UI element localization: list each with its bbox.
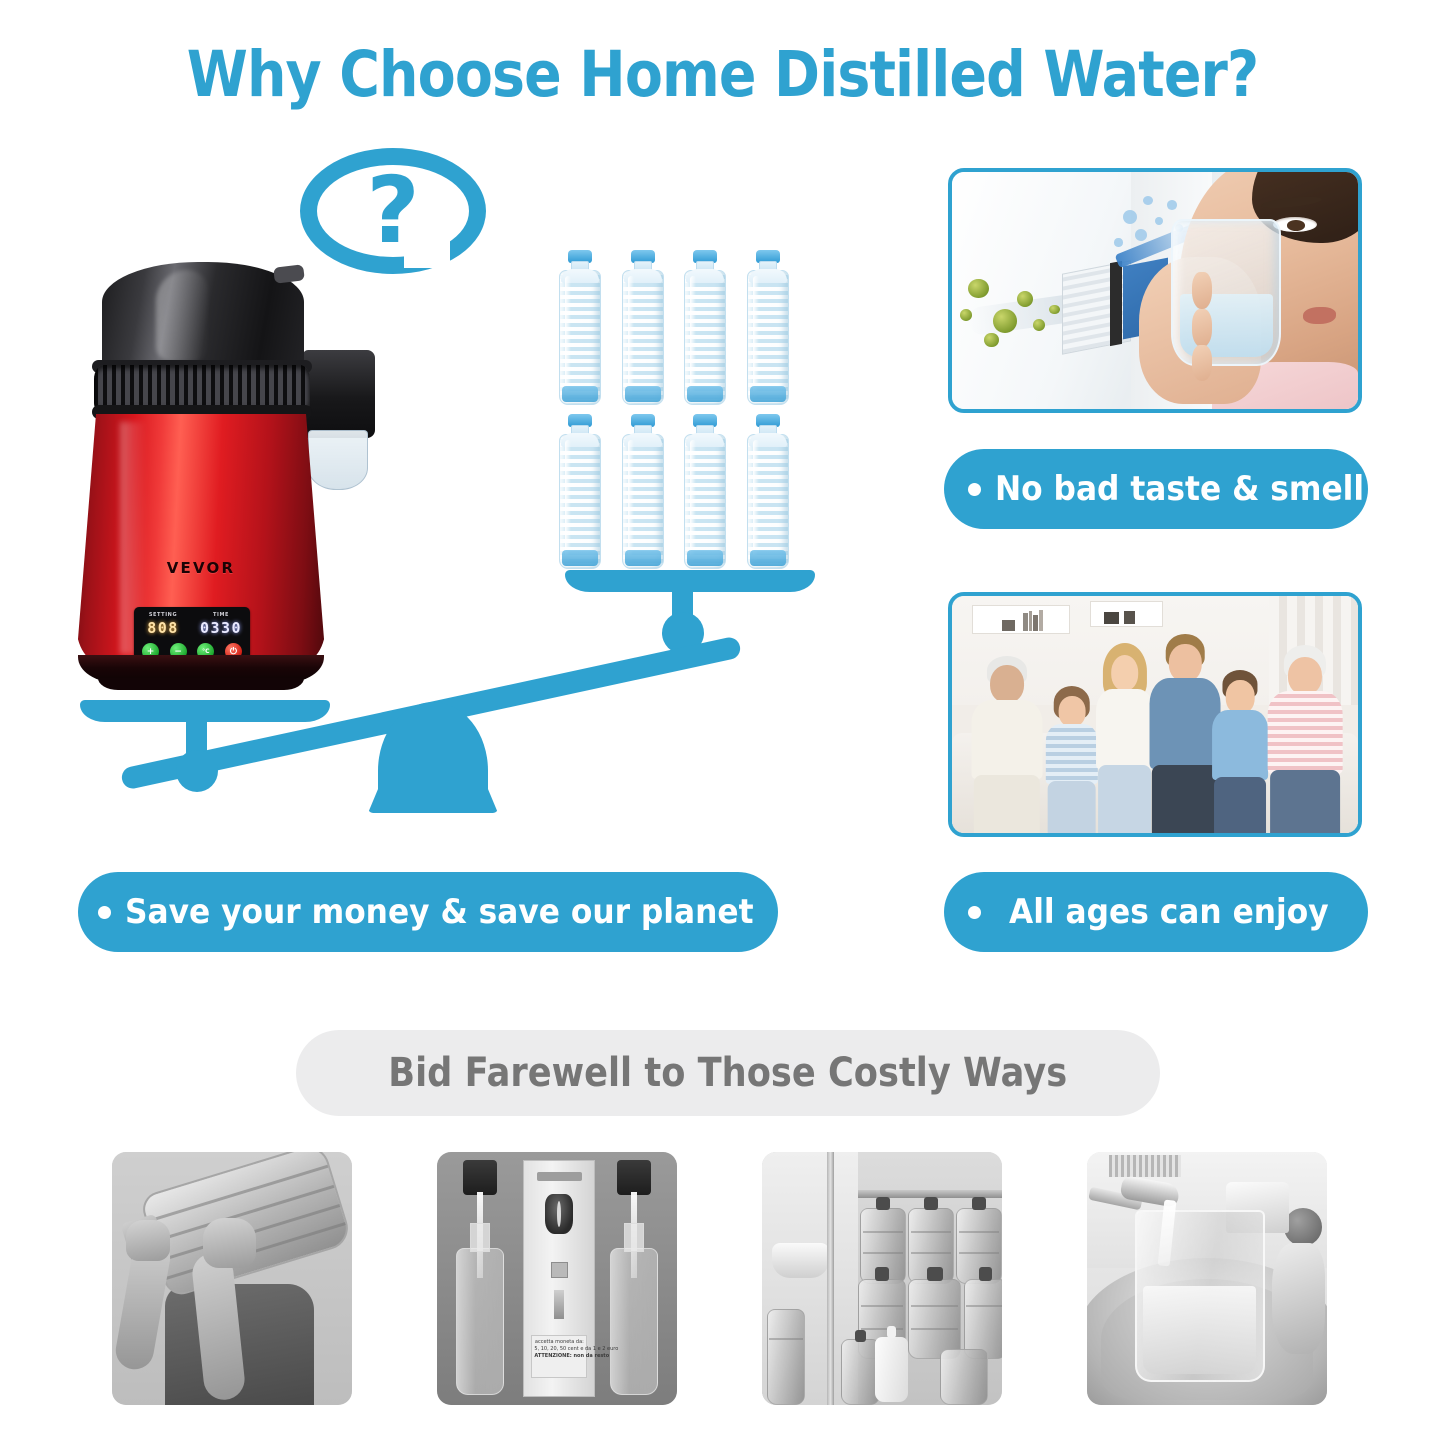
- question-mark-icon: ?: [300, 152, 486, 270]
- bottle-row-bottom: [556, 414, 792, 569]
- person-grandfather: [968, 653, 1045, 833]
- family-on-sofa-photo: [948, 592, 1362, 837]
- water-bottle: [744, 414, 792, 569]
- jug-cap: [875, 1267, 890, 1281]
- torso: [1096, 689, 1154, 769]
- jug-rib: [861, 1305, 903, 1307]
- book: [1124, 611, 1135, 624]
- label-line-3: ATTENZIONE: non da resto: [534, 1353, 584, 1360]
- germ-icon: [1049, 305, 1059, 314]
- banner-text: Bid Farewell to Those Costly Ways: [389, 1050, 1068, 1096]
- jug-rib: [863, 1252, 903, 1254]
- water-vending-machine-photo: accetta moneta da: 5, 10, 20, 50 cent e …: [437, 1152, 677, 1405]
- germ-icon: [993, 309, 1017, 333]
- germ-icon: [968, 279, 988, 298]
- fruit: [1284, 1208, 1322, 1246]
- glass-bottle-left: [456, 1248, 504, 1395]
- stacked-water-jugs-photo: [762, 1152, 1002, 1405]
- label-line-1: accetta moneta da:: [534, 1339, 584, 1346]
- head: [1058, 696, 1085, 726]
- filter-dark-plate: [1110, 261, 1122, 346]
- water-jug: [940, 1349, 988, 1405]
- coin-return[interactable]: [554, 1290, 563, 1318]
- bubble-icon: [1143, 196, 1153, 205]
- book: [1039, 610, 1043, 631]
- man-right-hand: [203, 1218, 256, 1269]
- jug-cap: [927, 1267, 943, 1281]
- panel-slot: [537, 1172, 582, 1180]
- bullet-dot-icon: [968, 906, 981, 919]
- book: [1033, 615, 1038, 631]
- seesaw-pivot-left: [176, 750, 218, 792]
- jug-neck: [887, 1326, 896, 1338]
- book: [1002, 620, 1015, 631]
- page-title: Why Choose Home Distilled Water?: [87, 38, 1359, 111]
- man-carrying-water-jug-photo: [112, 1152, 352, 1405]
- distiller-water-outlet: [308, 430, 368, 490]
- bottle-water: [687, 386, 723, 402]
- glass-bottle-right: [610, 1248, 658, 1395]
- jug-rib: [911, 1305, 958, 1307]
- wash-basin: [772, 1243, 830, 1278]
- tap-left-icon: [463, 1160, 497, 1195]
- wall-vent: [1109, 1155, 1181, 1178]
- jug-rib: [911, 1231, 951, 1233]
- tap-right-icon: [617, 1160, 651, 1195]
- water-bottle: [681, 250, 729, 405]
- caption-text: No bad taste & smell: [995, 469, 1364, 509]
- woman-lips: [1303, 307, 1335, 324]
- finger: [1192, 272, 1212, 310]
- bottle-highlight: [565, 276, 571, 396]
- legs: [974, 775, 1040, 836]
- coin-display: [551, 1262, 568, 1279]
- water-jug: [908, 1279, 961, 1360]
- bullet-dot-icon: [968, 483, 981, 496]
- germ-icon: [1017, 291, 1033, 308]
- woman-drinking-filtered-water-photo: [948, 168, 1362, 413]
- distiller-spout-housing: [303, 350, 375, 438]
- head: [990, 665, 1024, 703]
- jug-rib: [911, 1328, 958, 1330]
- label-line-2: 5, 10, 20, 50 cent e da 1 e 2 euro: [534, 1346, 584, 1353]
- water-jug: [964, 1279, 1002, 1360]
- bottle-highlight: [690, 440, 696, 560]
- filter-pitcher-at-tap-photo: [1087, 1152, 1327, 1405]
- head: [1288, 657, 1322, 695]
- water-bottle: [556, 414, 604, 569]
- lid-knob: [273, 264, 305, 284]
- bottle-water: [750, 386, 786, 402]
- infographic-page: Why Choose Home Distilled Water? ? VEVOR…: [0, 0, 1445, 1445]
- torso: [1212, 710, 1268, 780]
- head: [1169, 644, 1201, 682]
- water-bottle: [619, 250, 667, 405]
- vending-machine-panel: accetta moneta da: 5, 10, 20, 50 cent e …: [523, 1160, 595, 1398]
- book: [1023, 613, 1028, 631]
- torso: [971, 700, 1042, 779]
- balance-seesaw: [60, 560, 820, 830]
- water-jug: [841, 1339, 879, 1405]
- legs: [1047, 781, 1096, 836]
- vending-machine-label: accetta moneta da: 5, 10, 20, 50 cent e …: [531, 1335, 587, 1377]
- jug-rib: [769, 1338, 802, 1340]
- legs: [1214, 777, 1266, 837]
- head: [1226, 680, 1255, 713]
- water-bottle: [681, 414, 729, 569]
- water-bottle: [556, 250, 604, 405]
- jug-rib: [959, 1231, 999, 1233]
- bottle-neck: [624, 1223, 644, 1252]
- jug-rib: [966, 1305, 1002, 1307]
- bottle-water: [562, 386, 598, 402]
- seesaw-fulcrum-foot: [368, 785, 498, 813]
- drinking-glass: [1171, 219, 1281, 366]
- torso: [1268, 691, 1343, 774]
- person-grandmother: [1265, 643, 1346, 833]
- bottle-highlight: [690, 276, 696, 396]
- jug-rib: [861, 1328, 903, 1330]
- jug-cap: [855, 1330, 867, 1341]
- filter-pitcher: [1135, 1210, 1265, 1382]
- lid-highlight: [156, 270, 208, 362]
- pitcher-water: [1143, 1286, 1256, 1373]
- jug-cap: [979, 1267, 992, 1281]
- bottle-highlight: [565, 440, 571, 560]
- bubble-icon: [1123, 210, 1137, 224]
- jug-rib: [911, 1252, 951, 1254]
- bullet-dot-icon: [98, 906, 111, 919]
- water-jug: [767, 1309, 805, 1405]
- bottle-highlight: [628, 276, 634, 396]
- caption-text: All ages can enjoy: [1009, 892, 1329, 932]
- finger: [1192, 309, 1212, 347]
- germ-icon: [984, 333, 998, 347]
- legs: [1270, 770, 1340, 836]
- bottle-water: [625, 386, 661, 402]
- legs: [1098, 765, 1152, 837]
- caption-save-money: Save your money & save our planet: [78, 872, 778, 952]
- bottle-neck: [470, 1223, 490, 1252]
- person-boy: [1208, 667, 1273, 833]
- wall-shelf: [972, 605, 1069, 633]
- caption-text: Save your money & save our planet: [125, 892, 754, 932]
- water-bottle: [619, 414, 667, 569]
- bubble-icon: [1167, 200, 1177, 209]
- caption-all-ages: All ages can enjoy: [944, 872, 1368, 952]
- bubble-icon: [1135, 229, 1147, 241]
- book: [1029, 611, 1033, 631]
- finger: [1192, 345, 1212, 381]
- bottle-highlight: [753, 440, 759, 560]
- plastic-bottles-group: [556, 250, 792, 572]
- door-frame: [827, 1152, 834, 1405]
- book: [1104, 612, 1120, 624]
- costly-ways-banner: Bid Farewell to Those Costly Ways: [296, 1030, 1160, 1116]
- head: [1111, 655, 1139, 691]
- jug-cap: [924, 1197, 938, 1210]
- hand: [1272, 1243, 1325, 1354]
- bottle-highlight: [753, 276, 759, 396]
- caption-no-bad-taste: No bad taste & smell: [944, 449, 1368, 529]
- wall-shelf: [1090, 601, 1163, 627]
- jug-rib: [863, 1231, 903, 1233]
- speech-bubble-tail-mask: [404, 230, 450, 268]
- bubble-icon: [1114, 238, 1122, 246]
- man-left-hand: [126, 1220, 169, 1260]
- bottle-highlight: [628, 440, 634, 560]
- jug-cap: [876, 1197, 890, 1210]
- white-jug: [875, 1337, 909, 1403]
- jug-rib: [959, 1252, 999, 1254]
- jug-cap: [972, 1197, 986, 1210]
- bottle-row-top: [556, 250, 792, 405]
- water-bottle: [744, 250, 792, 405]
